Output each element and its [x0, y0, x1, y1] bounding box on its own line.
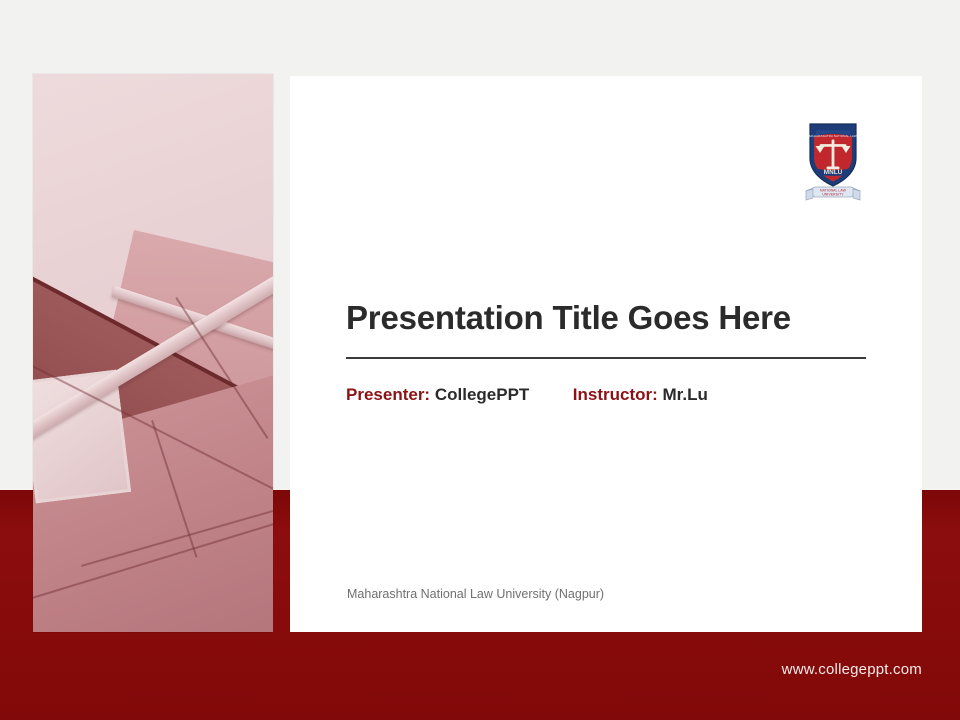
- instructor-value: Mr.Lu: [663, 385, 708, 404]
- title-divider: [346, 357, 866, 359]
- organization-name: Maharashtra National Law University (Nag…: [347, 587, 604, 601]
- slide-card: MNLU MAHARASHTRA NATIONAL LAW NATIONAL L…: [290, 76, 922, 632]
- instructor-label: Instructor:: [573, 385, 658, 404]
- site-url-text: www.collegeppt.com: [782, 661, 922, 678]
- svg-text:UNIVERSITY: UNIVERSITY: [822, 192, 844, 196]
- architectural-photo-panel: [33, 74, 273, 632]
- page-title: Presentation Title Goes Here: [346, 300, 868, 336]
- photo-inner: [33, 74, 273, 632]
- svg-text:MAHARASHTRA NATIONAL LAW: MAHARASHTRA NATIONAL LAW: [809, 134, 857, 138]
- svg-text:MNLU: MNLU: [824, 169, 843, 176]
- presenter-value: CollegePPT: [435, 385, 529, 404]
- presenter-instructor-row: Presenter: CollegePPT Instructor: Mr.Lu: [346, 385, 868, 405]
- slide-stage: www.collegeppt.com: [0, 0, 960, 720]
- presenter-label: Presenter:: [346, 385, 430, 404]
- title-block: Presentation Title Goes Here Presenter: …: [346, 300, 868, 405]
- mnlu-crest-logo: MNLU MAHARASHTRA NATIONAL LAW NATIONAL L…: [802, 118, 864, 210]
